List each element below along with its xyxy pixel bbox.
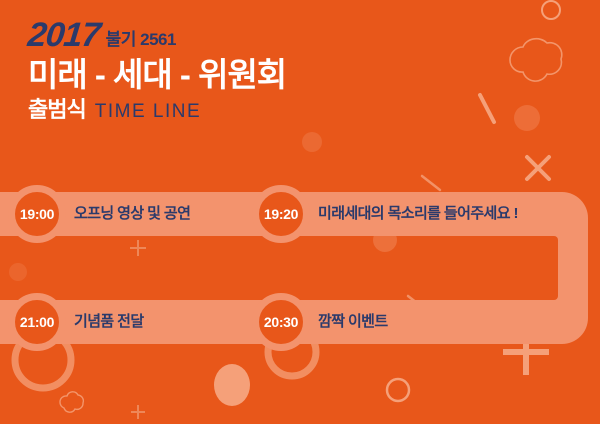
plus-small-center — [130, 240, 146, 256]
dot-soft-left-mid — [9, 263, 27, 281]
timeline-node-2-time: 19:20 — [264, 207, 298, 221]
timeline-node-3-time: 21:00 — [20, 315, 54, 329]
timeline-event-1: 오프닝 영상 및 공연 — [74, 205, 190, 223]
year-line: 2017 불기 2561 — [28, 14, 448, 52]
timeline-event-3: 기념품 전달 — [74, 313, 144, 331]
timeline-node-4-time: 20:30 — [264, 315, 298, 329]
diagonal-line-mid-right — [422, 176, 440, 190]
timeline-node-1[interactable]: 19:00 — [8, 185, 66, 243]
timeline-node-2[interactable]: 19:20 — [252, 185, 310, 243]
timeline-event-4: 깜짝 이벤트 — [318, 313, 388, 331]
x-mark-right — [527, 157, 549, 179]
subtitle-line: 출범식 TIME LINE — [28, 97, 448, 123]
dot-filled-bottom-center — [214, 364, 250, 406]
plus-small-bottom-left — [131, 405, 145, 419]
timeline-node-4[interactable]: 20:30 — [252, 293, 310, 351]
timeline-band-connector-cutout — [512, 236, 558, 300]
dot-soft-header-right — [514, 105, 540, 131]
timeline-node-1-time: 19:00 — [20, 207, 54, 221]
poster-header: 2017 불기 2561 미래 - 세대 - 위원회 출범식 TIME LINE — [28, 14, 448, 123]
year-buddhist: 불기 2561 — [106, 30, 176, 52]
cloud-outline-top-right — [510, 39, 562, 81]
cloud-outline-bottom-left — [60, 392, 83, 412]
timeline-node-3[interactable]: 21:00 — [8, 293, 66, 351]
subtitle-korean: 출범식 — [28, 97, 86, 123]
dot-soft-header-center — [302, 132, 322, 152]
page-title: 미래 - 세대 - 위원회 — [28, 56, 448, 94]
subtitle-english: TIME LINE — [95, 101, 201, 123]
poster-canvas: 2017 불기 2561 미래 - 세대 - 위원회 출범식 TIME LINE… — [0, 0, 600, 424]
timeline-event-2: 미래세대의 목소리를 들어주세요 ! — [318, 205, 518, 223]
diagonal-line-right — [480, 95, 494, 122]
ring-outline-bottom-right — [387, 379, 409, 401]
ring-small-top-right — [542, 1, 560, 19]
year-gregorian: 2017 — [26, 18, 101, 52]
